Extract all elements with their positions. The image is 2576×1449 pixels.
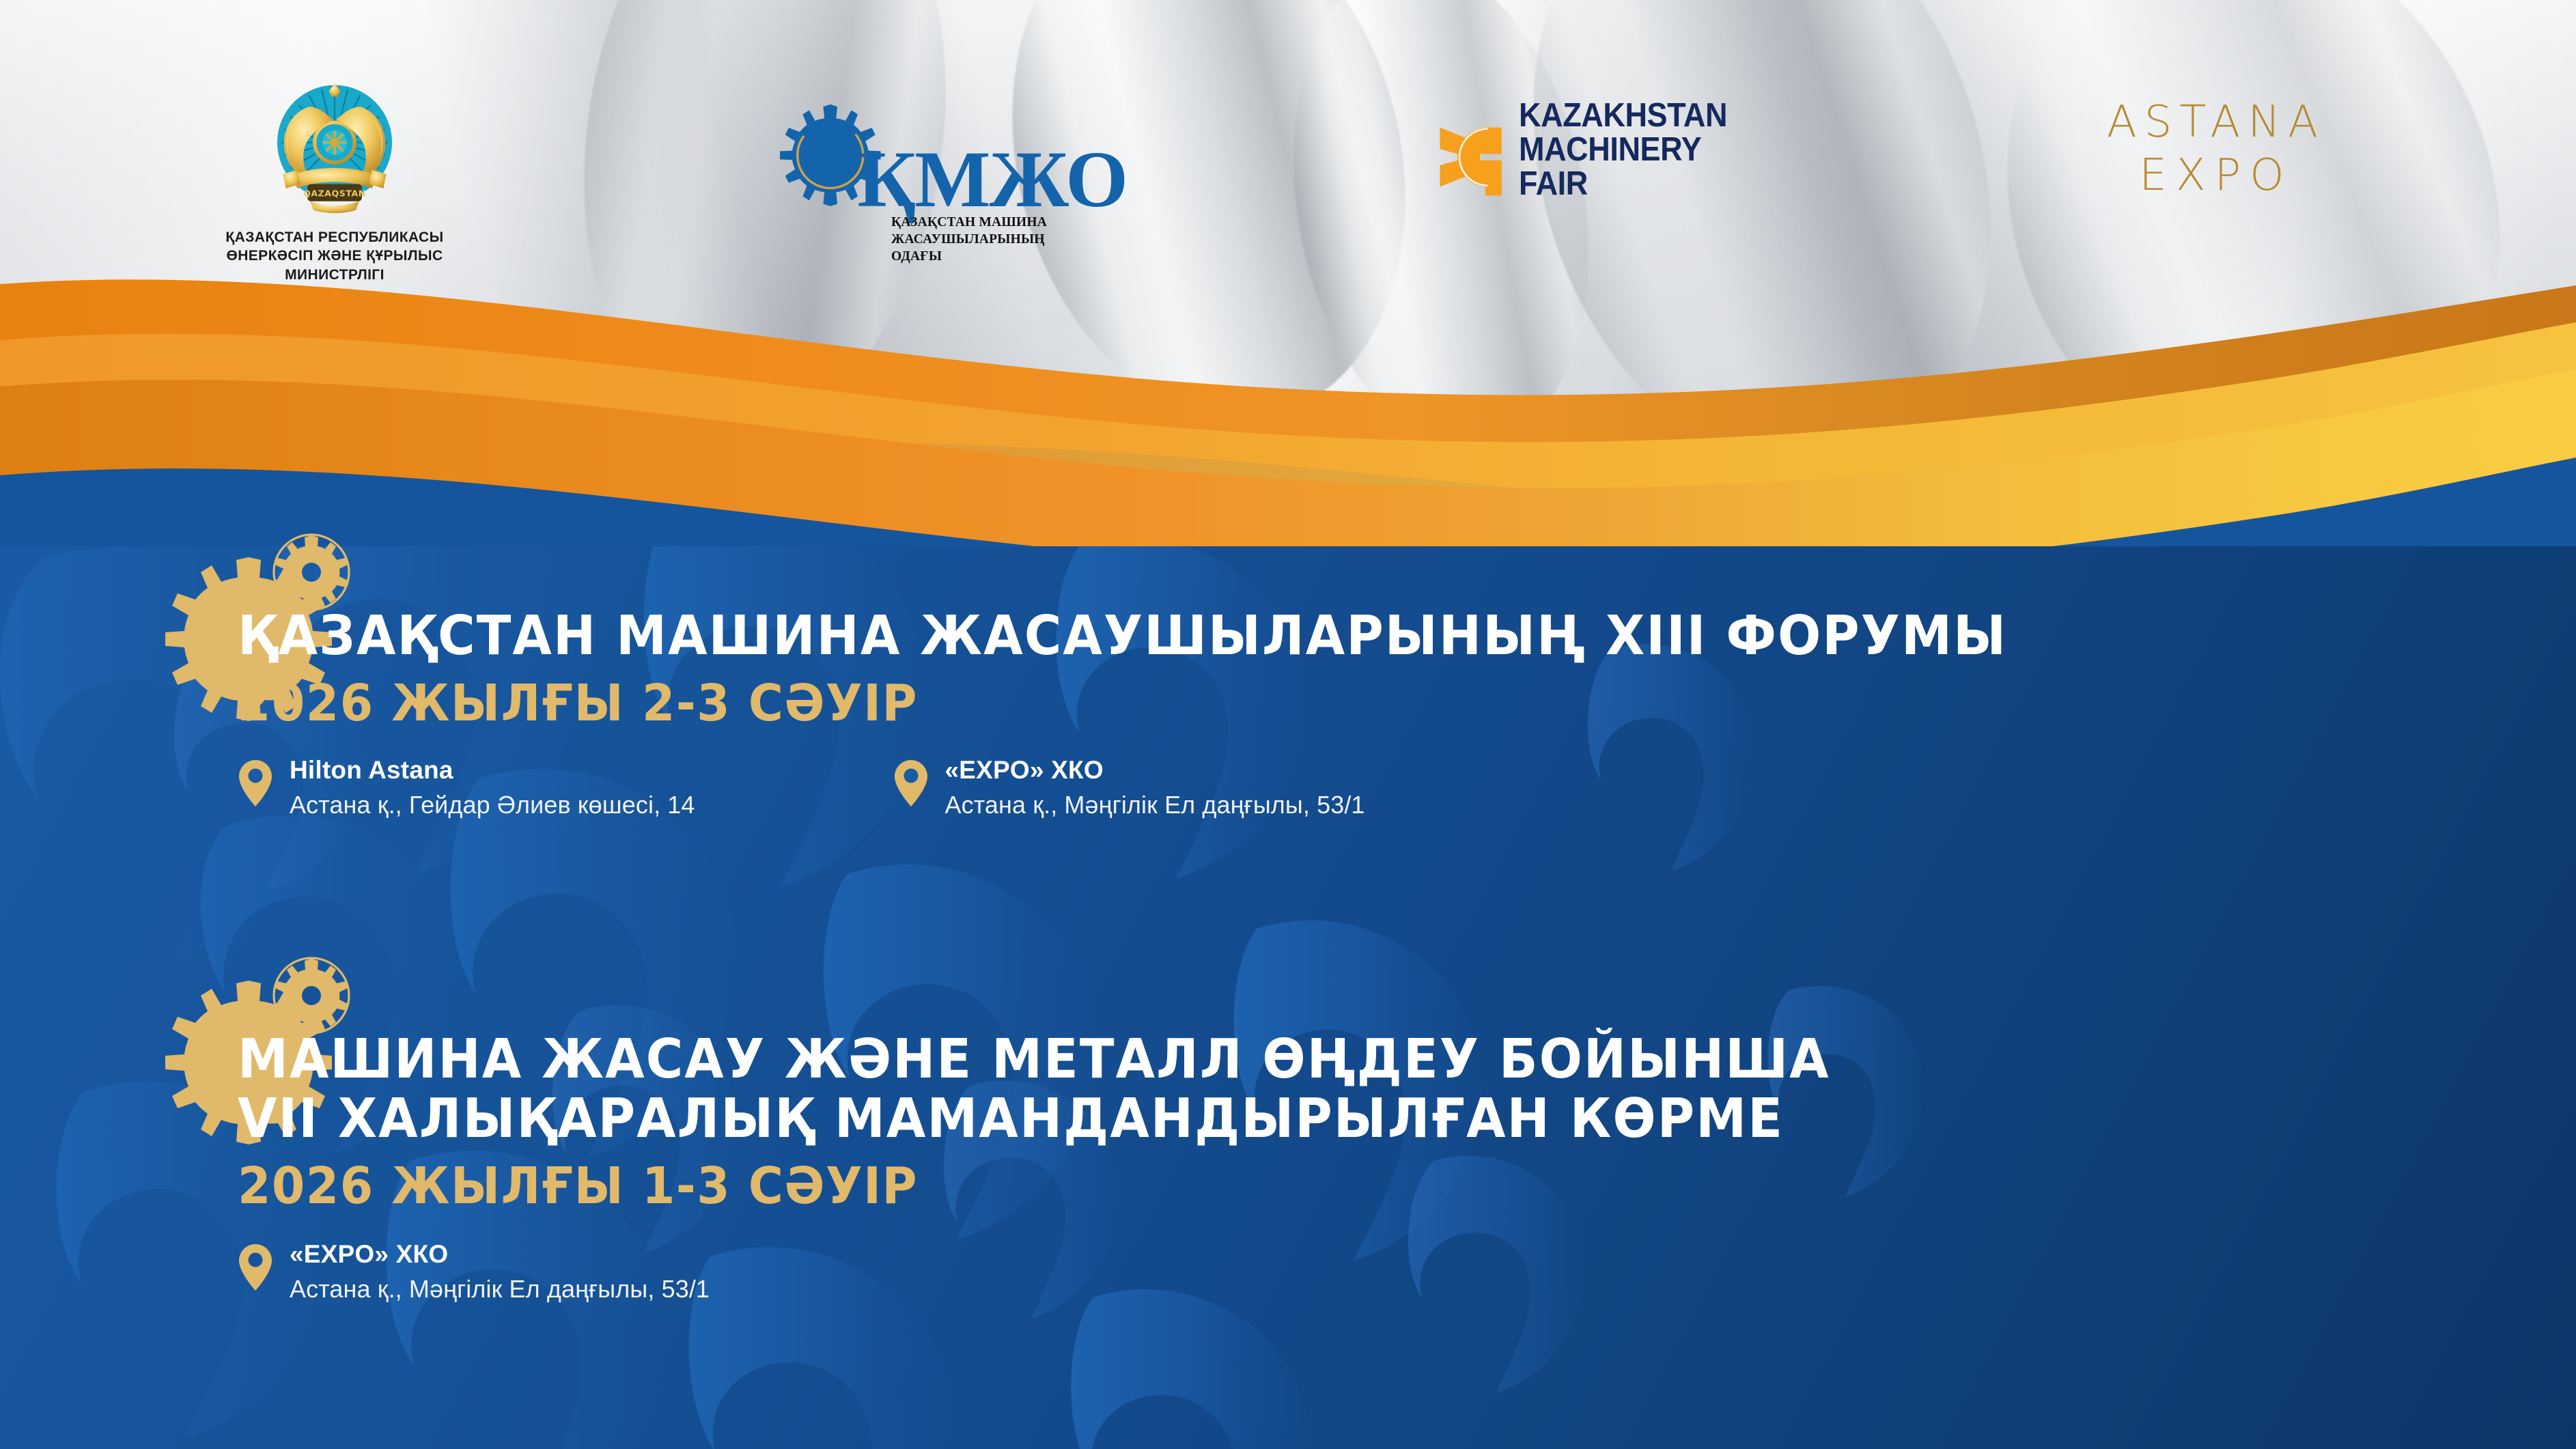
- expo-headline: МАШИНА ЖАСАУ ЖӘНЕ МЕТАЛЛ ӨҢДЕУ БОЙЫНША V…: [238, 949, 1830, 1149]
- event-banner: QAZAQSTAN ҚАЗАҚСТАН РЕСПУБЛИКАСЫ ӨНЕРКӘС…: [0, 0, 2576, 1449]
- venue-name: «EXPO» ХКО: [290, 1240, 710, 1269]
- venue-name: «EXPO» ХКО: [945, 756, 1365, 785]
- venue-item: «EXPO» ХКО Астана қ., Мәңгілік Ел даңғыл…: [238, 1240, 710, 1306]
- event-block-forum: ҚАЗАҚСТАН МАШИНА ЖАСАУШЫЛАРЫНЫҢ XIII ФОР…: [156, 526, 2120, 821]
- location-pin-icon: [238, 1243, 273, 1295]
- venue-address: Астана қ., Гейдар Әлиев көшесі, 14: [290, 789, 695, 821]
- expo-venues: «EXPO» ХКО Астана қ., Мәңгілік Ел даңғыл…: [238, 1240, 1932, 1306]
- forum-headline: ҚАЗАҚСТАН МАШИНА ЖАСАУШЫЛАРЫНЫҢ XIII ФОР…: [238, 526, 2007, 666]
- venue-item: «EXPO» ХКО Астана қ., Мәңгілік Ел даңғыл…: [893, 756, 1365, 821]
- venue-address: Астана қ., Мәңгілік Ел даңғылы, 53/1: [945, 789, 1365, 821]
- expo-headline-line: МАШИНА ЖАСАУ ЖӘНЕ МЕТАЛЛ ӨҢДЕУ БОЙЫНША: [238, 1030, 1830, 1089]
- location-pin-icon: [893, 759, 929, 811]
- forum-headline-line: ҚАЗАҚСТАН МАШИНА ЖАСАУШЫЛАРЫНЫҢ XIII ФОР…: [238, 606, 2007, 666]
- venue-address: Астана қ., Мәңгілік Ел даңғылы, 53/1: [290, 1274, 710, 1306]
- expo-headline-line: VII ХАЛЫҚАРАЛЫҚ МАМАНДАНДЫРЫЛҒАН КӨРМЕ: [238, 1089, 1830, 1149]
- venue-name: Hilton Astana: [290, 756, 695, 785]
- expo-date: 2026 ЖЫЛҒЫ 1-3 СӘУІР: [238, 1157, 1830, 1215]
- location-pin-icon: [238, 759, 273, 811]
- forum-date: 2026 ЖЫЛҒЫ 2-3 СӘУІР: [238, 674, 2007, 733]
- main-content: ҚАЗАҚСТАН МАШИНА ЖАСАУШЫЛАРЫНЫҢ XIII ФОР…: [0, 0, 2576, 1449]
- event-block-expo: МАШИНА ЖАСАУ ЖӘНЕ МЕТАЛЛ ӨҢДЕУ БОЙЫНША V…: [156, 949, 1932, 1305]
- venue-item: Hilton Astana Астана қ., Гейдар Әлиев кө…: [238, 756, 695, 821]
- forum-venues: Hilton Astana Астана қ., Гейдар Әлиев кө…: [238, 756, 2120, 821]
